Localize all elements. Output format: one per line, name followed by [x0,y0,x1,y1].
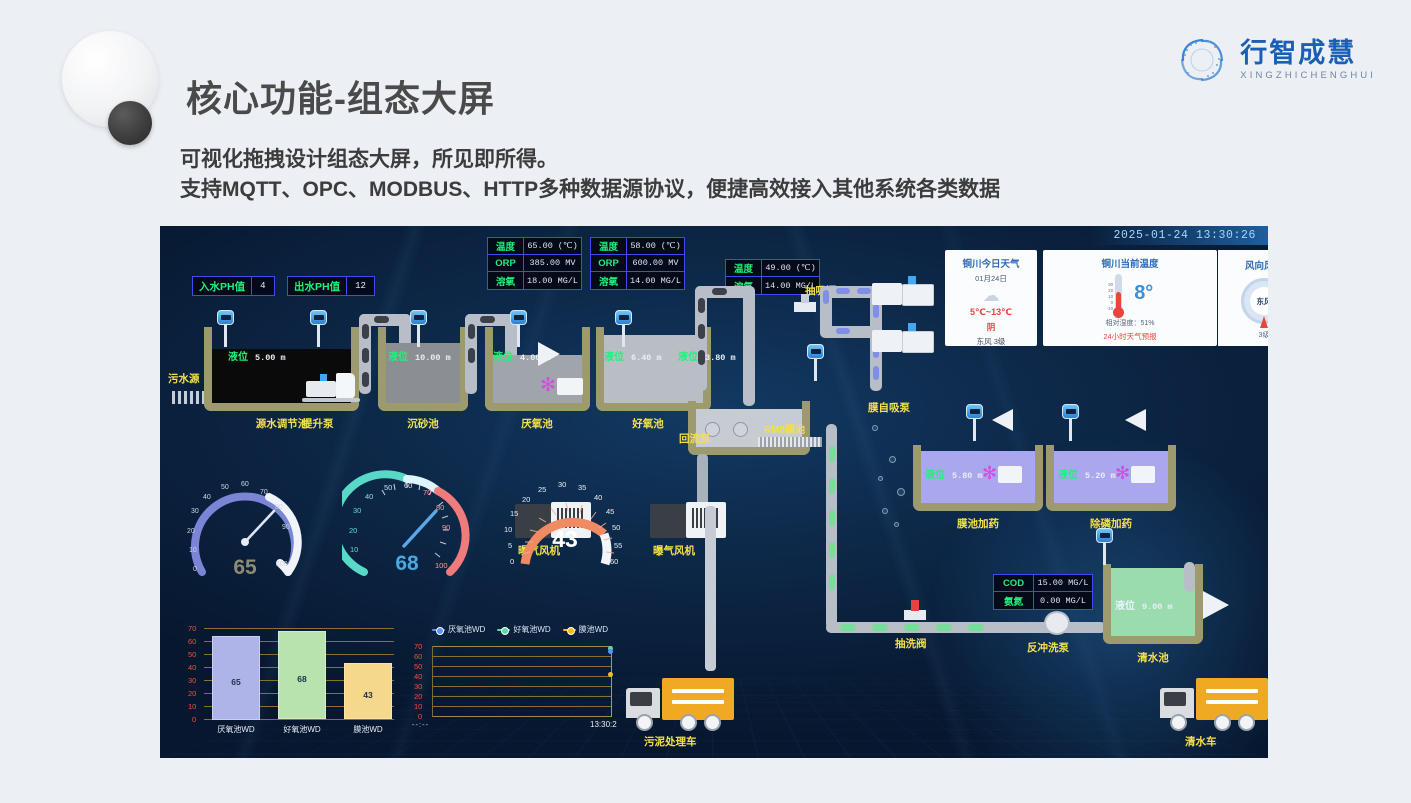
lift-pump-body[interactable] [306,381,336,397]
level-value: 3.80 m [705,353,736,363]
sensor-head [615,310,632,325]
svg-text:60: 60 [404,481,412,490]
sensor-stem [224,325,227,347]
bar-ytick-40: 40 [188,663,196,672]
svg-text:40: 40 [594,493,602,502]
backwash-valve-label: 抽洗阀 [895,636,927,651]
tank-label-membrane: RM8膜池 [764,421,805,436]
tank-label-dosing-1: 膜池加药 [957,516,999,531]
svg-text:60: 60 [241,481,249,488]
clear-water-level: 液位9.00 m [1115,597,1173,612]
membrane-fan-2-icon [733,422,748,437]
clear-water-funnel-icon [1203,591,1229,619]
sensor-stem [814,359,817,381]
ammonia-label: 氨氮 [994,592,1034,609]
gauge-anoxic: 01020 304050 607080 90100 65 [180,464,310,584]
wd-line-chart: 厌氧池WD 好氧池WD 膜池WD 70 60 50 40 30 20 10 0 [408,624,648,742]
svg-text:90: 90 [282,524,290,531]
bar-aerobic-value: 68 [297,674,306,684]
svg-text:50: 50 [221,484,229,491]
bar-ytick-50: 50 [188,650,196,659]
weather-forecast-link[interactable]: 24小时天气预报 [1043,331,1217,342]
level-key: 液位 [493,352,513,363]
svg-text:35: 35 [578,483,586,492]
sludge-pipe [705,506,716,671]
weather-current-card: 铜川当前温度 30 20 10 0 -10 8° 相对湿度：51% 24小时天气… [1043,250,1217,346]
inlet-ph-box: 入水PH值 4 [192,276,275,296]
weather-today-condition: 阴 [987,321,996,333]
lift-pump-indicator [320,374,327,381]
bar-membrane[interactable]: 43 [344,663,392,719]
svg-text:70: 70 [423,488,431,497]
sewage-source-label: 污水源 [168,371,200,386]
sensor-head [217,310,234,325]
line-xtick-empty: --:-- [412,720,429,729]
wind-level: 3级 [1259,330,1268,340]
gauge-membrane: 0510 152025 303540 455055 60 43 [500,464,630,574]
svg-text:100: 100 [435,561,448,570]
sensor-stem [417,325,420,347]
sensor-head [410,310,427,325]
svg-text:90: 90 [442,523,450,532]
level-key: 液位 [678,352,698,363]
anoxic-funnel-icon [538,342,560,366]
subtitle-line-1: 可视化拖拽设计组态大屏，所见即所得。 [180,145,1180,175]
svg-text:40: 40 [365,492,373,501]
gauge-membrane-value: 43 [552,526,578,553]
svg-text:10: 10 [504,525,512,534]
bar-cat-anoxic: 厌氧池WD [217,724,254,735]
weather-today-range: 5℃~13℃ [970,307,1012,318]
aerobic-level: 液位6.40 m [604,348,662,363]
tank-label-anoxic: 厌氧池 [521,416,553,431]
aerobic-do-value: 14.00 MG/L [627,272,684,289]
cod-label: COD [994,575,1034,591]
svg-text:0: 0 [193,566,197,573]
logo-name-cn: 行智成慧 [1240,39,1356,67]
dosing-1-level: 液位5.80 m [925,466,983,481]
line-point-anoxic [608,649,613,654]
sensor-head [1096,528,1113,543]
wind-title: 风向风力 [1245,258,1268,272]
line-ytick-70: 70 [414,642,422,651]
svg-text:80: 80 [275,504,283,511]
level-sensor-membrane[interactable] [807,344,824,381]
line-ytick-30: 30 [414,682,422,691]
truck-container [662,678,734,720]
svg-text:0: 0 [510,557,514,566]
level-key: 液位 [1115,601,1135,612]
outlet-ph-box: 出水PH值 12 [287,276,375,296]
bar-ytick-60: 60 [188,637,196,646]
return-pump-label: 回流泵 [679,431,711,446]
level-value: 5.80 m [952,471,983,481]
svg-text:70: 70 [260,489,268,496]
outlet-ph-label: 出水PH值 [288,277,347,295]
anoxic-led-panel: 温度65.00 (℃) ORP385.00 MV 溶氧18.00 MG/L [487,237,582,290]
truck-container [1196,678,1268,720]
tank-anoxic[interactable] [485,327,590,411]
bar-cat-membrane: 膜池WD [353,724,382,735]
bar-ytick-30: 30 [188,676,196,685]
line-ytick-20: 20 [414,692,422,701]
lift-pump-base [302,398,360,402]
aerobic-led-panel: 温度58.00 (℃) ORP600.00 MV 溶氧14.00 MG/L [590,237,685,290]
sensor-stem [517,325,520,347]
suction-valve-stem [801,294,809,303]
logo-swirl-icon [1174,32,1230,88]
legend-aerobic[interactable]: 好氧池WD [497,624,550,635]
sensor-head [310,310,327,325]
aerobic-orp-value: 600.00 MV [627,255,684,271]
weather-wind-card: 风向风力 东风 3级 [1218,250,1268,346]
bar-cat-aerobic: 好氧池WD [283,724,320,735]
legend-membrane[interactable]: 膜池WD [563,624,608,635]
anoxic-temp-label: 温度 [488,238,524,254]
weather-humidity: 相对湿度：51% [1043,318,1217,328]
level-key: 液位 [604,352,624,363]
ammonia-value: 0.00 MG/L [1034,592,1092,609]
weather-today-card: 铜川今日天气 01月24日 ☁ 5℃~13℃ 阴 东风 3级 [945,250,1037,346]
blower-2-housing[interactable] [650,504,686,538]
logo-name-en: XINGZHICHENGHUI [1240,70,1376,81]
svg-text:60: 60 [610,557,618,566]
svg-text:0: 0 [354,564,358,573]
bar-anoxic[interactable]: 65 [212,636,260,720]
weather-today-title: 铜川今日天气 [962,256,1019,270]
level-sensor-aerobic[interactable] [615,310,632,347]
backwash-valve-handle[interactable] [911,600,919,611]
membrane-module-icon [758,437,822,447]
sludge-truck-label: 污泥处理车 [644,734,697,749]
weather-today-date: 01月24日 [975,273,1007,284]
level-sensor-anoxic[interactable] [510,310,527,347]
level-value: 10.00 m [415,353,451,363]
bar-ytick-0: 0 [192,715,196,724]
legend-marker-anoxic [432,629,445,631]
sensor-stem [1103,543,1106,565]
dosing-1-mixer-blade-icon: ✻ [982,464,997,482]
clean-water-truck[interactable] [1160,674,1268,732]
svg-text:20: 20 [522,495,530,504]
sensor-head [1062,404,1079,419]
membrane-pump-2-body[interactable] [872,330,902,352]
anoxic-temp-value: 65.00 (℃) [524,238,581,254]
membrane-pipe-mid [820,326,880,338]
legend-marker-aerobic [497,629,510,631]
truck-stripe-1 [672,689,724,693]
line-ytick-10: 10 [414,702,422,711]
bar-ytick-10: 10 [188,702,196,711]
clear-water-outlet-pipe [1184,562,1195,592]
tank-label-raw-water: 源水调节池 [256,416,309,431]
membrane-pump-label: 膜自吸泵 [868,400,910,415]
truck-stripe-1 [1206,689,1258,693]
dosing-2-funnel-icon [1125,409,1146,431]
svg-text:40: 40 [203,494,211,501]
backwash-pump-label: 反冲洗泵 [1027,640,1069,655]
legend-marker-membrane [563,629,576,631]
anoxic-do-value: 18.00 MG/L [524,272,581,289]
aerobic-do-label: 溶氧 [591,272,627,289]
dosing-2-level: 液位5.20 m [1058,466,1116,481]
truck-wheel-3 [1238,714,1255,731]
membrane-pump-2-motor[interactable] [902,331,934,353]
level-key: 液位 [925,470,945,481]
svg-text:20: 20 [349,526,357,535]
truck-stripe-2 [1206,700,1258,704]
svg-text:10: 10 [350,545,358,554]
bar-ytick-20: 20 [188,689,196,698]
ph-sensor-inlet[interactable] [217,310,234,347]
sensor-stem [622,325,625,347]
cod-value: 15.00 MG/L [1034,575,1092,591]
anoxic-do-label: 溶氧 [488,272,524,289]
tank-label-sand-filter: 沉砂池 [407,416,439,431]
pipe-arch-3-right [743,286,755,406]
clock-readout: 2025-01-24 13:30:26 [1087,226,1268,245]
aerobic-temp-label: 温度 [591,238,627,254]
subtitle-line-2: 支持MQTT、OPC、MODBUS、HTTP多种数据源协议，便捷高效接入其他系统… [180,175,1180,205]
outlet-ph-value: 12 [347,277,374,295]
sewage-source-icon [172,391,204,404]
line-ytick-60: 60 [414,652,422,661]
legend-label-anoxic: 厌氧池WD [448,624,485,635]
bar-aerobic[interactable]: 68 [278,631,326,719]
svg-text:30: 30 [353,506,361,515]
effluent-led-panel: COD15.00 MG/L 氨氮0.00 MG/L [993,574,1093,610]
aerobic-temp-value: 58.00 (℃) [627,238,684,254]
anoxic-orp-label: ORP [488,255,524,271]
bar-ytick-70: 70 [188,624,196,633]
wind-direction: 东风 [1250,287,1268,315]
level-value: 5.00 m [255,353,286,363]
thermometer-icon: 30 20 10 0 -10 [1107,274,1123,312]
truck-wheel-3 [704,714,721,731]
level-value: 9.00 m [1142,602,1173,612]
return-pump-pipe [697,454,708,506]
svg-text:30: 30 [191,508,199,515]
svg-text:30: 30 [558,480,566,489]
membrane-pump-1-body[interactable] [872,283,902,305]
tank-label-aerobic: 好氧池 [632,416,664,431]
bar-membrane-value: 43 [363,690,372,700]
legend-label-membrane: 膜池WD [579,624,608,635]
logo-text: 行智成慧 XINGZHICHENGHUI [1240,39,1376,81]
line-chart-legend: 厌氧池WD 好氧池WD 膜池WD [432,624,608,635]
legend-anoxic[interactable]: 厌氧池WD [432,624,485,635]
tank-aerobic[interactable] [596,327,711,411]
backwash-valve-icon[interactable] [904,610,926,620]
truck-wheel-2 [680,714,697,731]
svg-text:20: 20 [187,528,195,535]
legend-label-aerobic: 好氧池WD [513,624,550,635]
decorative-circle-small [108,101,152,145]
sensor-head [966,404,983,419]
truck-wheel-1 [1170,714,1187,731]
truck-window [1164,692,1186,706]
svg-text:55: 55 [614,541,622,550]
membrane-pump-2-indicator [908,323,916,331]
wind-needle-icon [1260,316,1268,328]
scada-dashboard: 2025-01-24 13:30:26 入水PH值 4 出水PH值 12 温度6… [160,226,1268,758]
dosing-2-mixer-blade-icon: ✻ [1115,464,1130,482]
wd-bar-chart: 70 60 50 40 30 20 10 0 65 68 43 厌氧池WD 好氧… [178,624,400,742]
weather-cloud-icon: ☁ [983,287,1000,304]
lift-pump-head[interactable] [336,373,355,399]
inlet-ph-label: 入水PH值 [193,277,252,295]
anoxic-mixer-blade-icon: ✻ [540,376,556,395]
membrane-pump-1-indicator [908,276,916,284]
inlet-ph-value: 4 [252,277,273,295]
gauge-anoxic-value: 65 [233,556,256,580]
sensor-head [510,310,527,325]
gauge-aerobic-value: 68 [395,552,418,576]
svg-text:5: 5 [508,541,512,550]
svg-text:50: 50 [384,483,392,492]
clean-water-truck-label: 清水车 [1185,734,1217,749]
truck-stripe-2 [672,700,724,704]
page-title: 核心功能-组态大屏 [186,70,495,122]
svg-text:10: 10 [189,547,197,554]
blower-2-label: 曝气风机 [653,543,695,558]
membrane-pump-1-motor[interactable] [902,284,934,306]
tank-label-clear-water: 清水池 [1137,650,1169,665]
truck-wheel-2 [1214,714,1231,731]
svg-text:100: 100 [276,561,288,568]
aerobic-orp-label: ORP [591,255,627,271]
weather-current-title: 铜川当前温度 [1043,256,1217,270]
level-key: 液位 [388,352,408,363]
level-sensor-sand-filter[interactable] [410,310,427,347]
anoxic-orp-value: 385.00 MV [524,255,581,271]
page-subtitle: 可视化拖拽设计组态大屏，所见即所得。 支持MQTT、OPC、MODBUS、HTT… [180,145,1180,206]
backwash-pump-icon[interactable] [1044,611,1070,635]
suction-valve-icon[interactable] [794,302,816,312]
membrane-level: 液位3.80 m [678,348,736,363]
svg-text:15: 15 [510,509,518,518]
level-sensor-dosing-1[interactable] [966,404,983,441]
dosing-2-mixer-motor[interactable] [1131,466,1155,483]
sensor-stem [1069,419,1072,441]
brand-logo: 行智成慧 XINGZHICHENGHUI [1174,32,1376,88]
level-sensor-dosing-2[interactable] [1062,404,1079,441]
level-sensor-clear-water[interactable] [1096,528,1113,565]
level-value: 6.40 m [631,353,662,363]
dosing-1-mixer-motor[interactable] [998,466,1022,483]
dosing-1-funnel-icon [992,409,1013,431]
membrane-temp-value: 49.00 (℃) [762,260,819,276]
weather-current-temp: 8° [1134,282,1153,305]
gauge-aerobic: 010 2030 4050 6070 8090 100 68 [342,464,472,584]
svg-text:25: 25 [538,485,546,494]
anoxic-mixer-motor[interactable] [557,378,583,395]
level-key: 液位 [228,352,248,363]
svg-text:45: 45 [606,507,614,516]
weather-today-wind: 东风 3级 [977,336,1006,347]
lift-pump-label: 提升泵 [302,416,334,431]
sensor-stem [973,419,976,441]
line-point-membrane [608,672,613,677]
sensor-stem [317,325,320,347]
membrane-temp-label: 温度 [726,260,762,276]
ph-sensor-outlet[interactable] [310,310,327,347]
level-key: 液位 [1058,470,1078,481]
raw-water-level: 液位5.00 m [228,348,286,363]
sensor-head [807,344,824,359]
line-ytick-40: 40 [414,672,422,681]
bar-anoxic-value: 65 [231,677,240,687]
line-ytick-50: 50 [414,662,422,671]
svg-text:50: 50 [612,523,620,532]
level-value: 5.20 m [1085,471,1116,481]
line-xtick-current: 13:30:2 [590,720,617,729]
sand-filter-level: 液位10.00 m [388,348,451,363]
